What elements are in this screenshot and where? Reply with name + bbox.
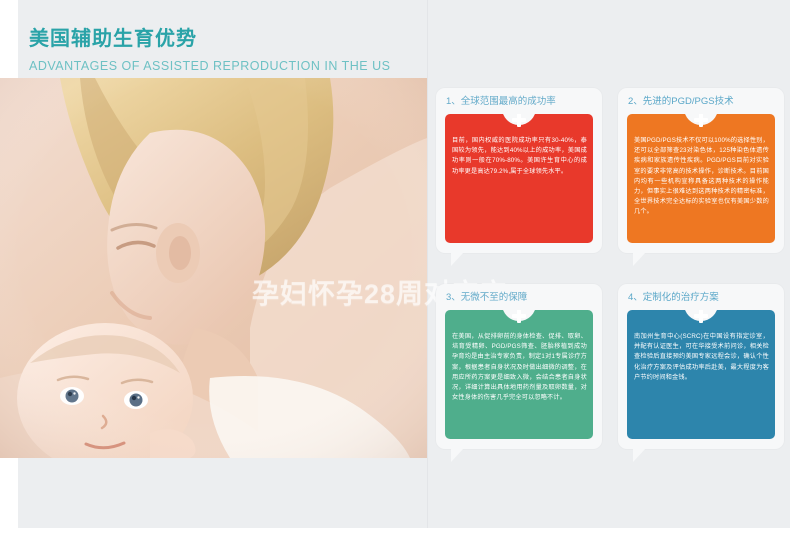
advantage-card-2[interactable]: 2、先进的PGD/PGS技术 美国PGD/PGS技术不仅可以100%的选择性别，…	[618, 88, 784, 253]
advantage-card-3[interactable]: 3、无微不至的保障 在美国，从促排卵前的身体检查、促排、取卵、培育受精卵、PGD…	[436, 284, 602, 449]
medical-cross-icon	[694, 114, 708, 127]
page-title-block: 美国辅助生育优势 ADVANTAGES OF ASSISTED REPRODUC…	[29, 26, 409, 74]
advantage-card-2-title: 2、先进的PGD/PGS技术	[628, 95, 778, 108]
advantage-card-1-text: 目前，国内权威的医院成功率只有30-40%，泰国较为领先，能达到40%以上的成功…	[452, 136, 587, 177]
card-tail	[451, 252, 464, 266]
medical-cross-icon	[694, 310, 708, 323]
advantage-card-2-text: 美国PGD/PGS技术不仅可以100%的选择性别，还可以全部筛查23对染色体，1…	[634, 136, 769, 218]
medical-cross-icon	[512, 310, 526, 323]
advantage-card-4[interactable]: 4、定制化的治疗方案 南加州生育中心(SCRC)在中国设有指定诊室，并配有认证医…	[618, 284, 784, 449]
page-title-cn: 美国辅助生育优势	[29, 26, 409, 52]
page-right-margin	[790, 0, 806, 550]
card-tail	[633, 252, 646, 266]
advantage-card-3-title: 3、无微不至的保障	[446, 291, 596, 304]
hero-photo	[0, 78, 427, 458]
advantage-card-3-body: 在美国，从促排卵前的身体检查、促排、取卵、培育受精卵、PGD/PGS筛查、胚胎移…	[445, 310, 593, 439]
hero-photo-image	[0, 78, 427, 458]
advantage-card-2-body: 美国PGD/PGS技术不仅可以100%的选择性别，还可以全部筛查23对染色体，1…	[627, 114, 775, 243]
advantage-card-1[interactable]: 1、全球范围最高的成功率 目前，国内权威的医院成功率只有30-40%，泰国较为领…	[436, 88, 602, 253]
advantage-card-1-title: 1、全球范围最高的成功率	[446, 95, 596, 108]
advantage-card-1-body: 目前，国内权威的医院成功率只有30-40%，泰国较为领先，能达到40%以上的成功…	[445, 114, 593, 243]
medical-cross-icon	[512, 114, 526, 127]
advantage-card-3-text: 在美国，从促排卵前的身体检查、促排、取卵、培育受精卵、PGD/PGS筛查、胚胎移…	[452, 332, 587, 403]
column-divider	[427, 0, 428, 528]
card-tail	[633, 448, 646, 462]
advantage-cards: 1、全球范围最高的成功率 目前，国内权威的医院成功率只有30-40%，泰国较为领…	[436, 88, 784, 448]
advantage-card-4-body: 南加州生育中心(SCRC)在中国设有指定诊室，并配有认证医生，可在华接受术前问诊…	[627, 310, 775, 439]
page-root: 美国辅助生育优势 ADVANTAGES OF ASSISTED REPRODUC…	[0, 0, 806, 550]
page-title-en: ADVANTAGES OF ASSISTED REPRODUCTION IN T…	[29, 58, 409, 74]
page-bottom-margin	[0, 528, 806, 550]
advantage-card-4-title: 4、定制化的治疗方案	[628, 291, 778, 304]
card-tail	[451, 448, 464, 462]
advantage-card-4-text: 南加州生育中心(SCRC)在中国设有指定诊室，并配有认证医生，可在华接受术前问诊…	[634, 332, 769, 383]
